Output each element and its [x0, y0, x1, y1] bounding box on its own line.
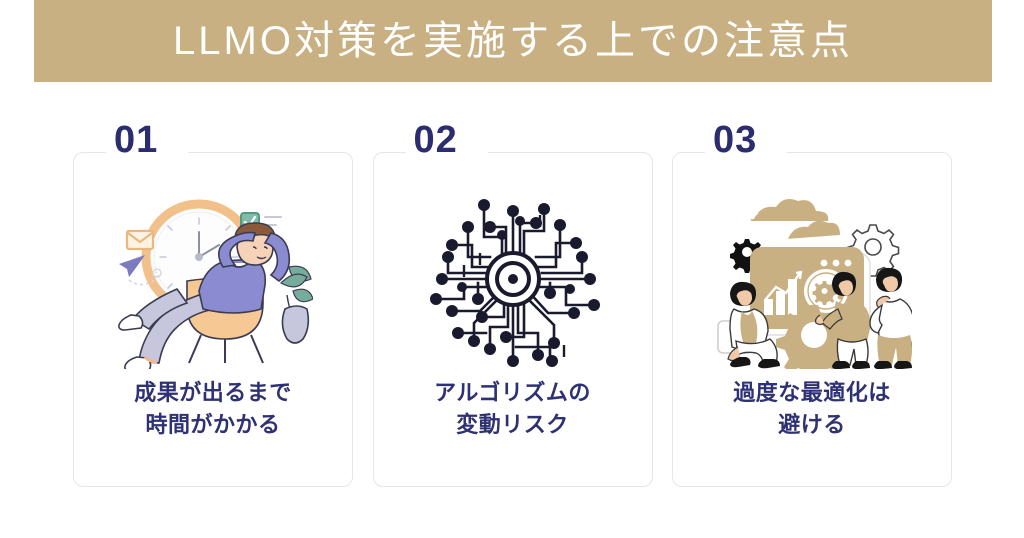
card-caption-line-2: 時間がかかる: [134, 409, 292, 441]
circuit-board-chip-icon: [413, 187, 613, 369]
card-caption-line-1: 成果が出るまで: [134, 377, 292, 409]
card-caption: 過度な最適化は 避ける: [733, 377, 891, 441]
slide-root: LLMO対策を実施する上での注意点 01: [0, 0, 1024, 538]
dashboard-gears-team-icon: [712, 187, 912, 369]
person-relaxing-with-clock-icon: [113, 187, 313, 369]
card-caption-line-2: 避ける: [733, 409, 891, 441]
card-03[interactable]: 03: [672, 152, 952, 487]
header-banner: LLMO対策を実施する上での注意点: [34, 0, 992, 82]
card-01[interactable]: 01: [73, 152, 353, 487]
card-caption-line-1: 過度な最適化は: [733, 377, 891, 409]
card-number-label: 02: [414, 121, 458, 159]
card-caption-line-1: アルゴリズムの: [434, 377, 591, 409]
page-title: LLMO対策を実施する上での注意点: [173, 21, 853, 61]
card-caption: アルゴリズムの 変動リスク: [434, 377, 591, 441]
card-caption-line-2: 変動リスク: [434, 409, 591, 441]
card-caption: 成果が出るまで 時間がかかる: [134, 377, 292, 441]
card-number-label: 03: [713, 121, 757, 159]
cards-row: 01: [73, 152, 952, 487]
card-02[interactable]: 02: [373, 152, 653, 487]
card-number-label: 01: [114, 121, 158, 159]
